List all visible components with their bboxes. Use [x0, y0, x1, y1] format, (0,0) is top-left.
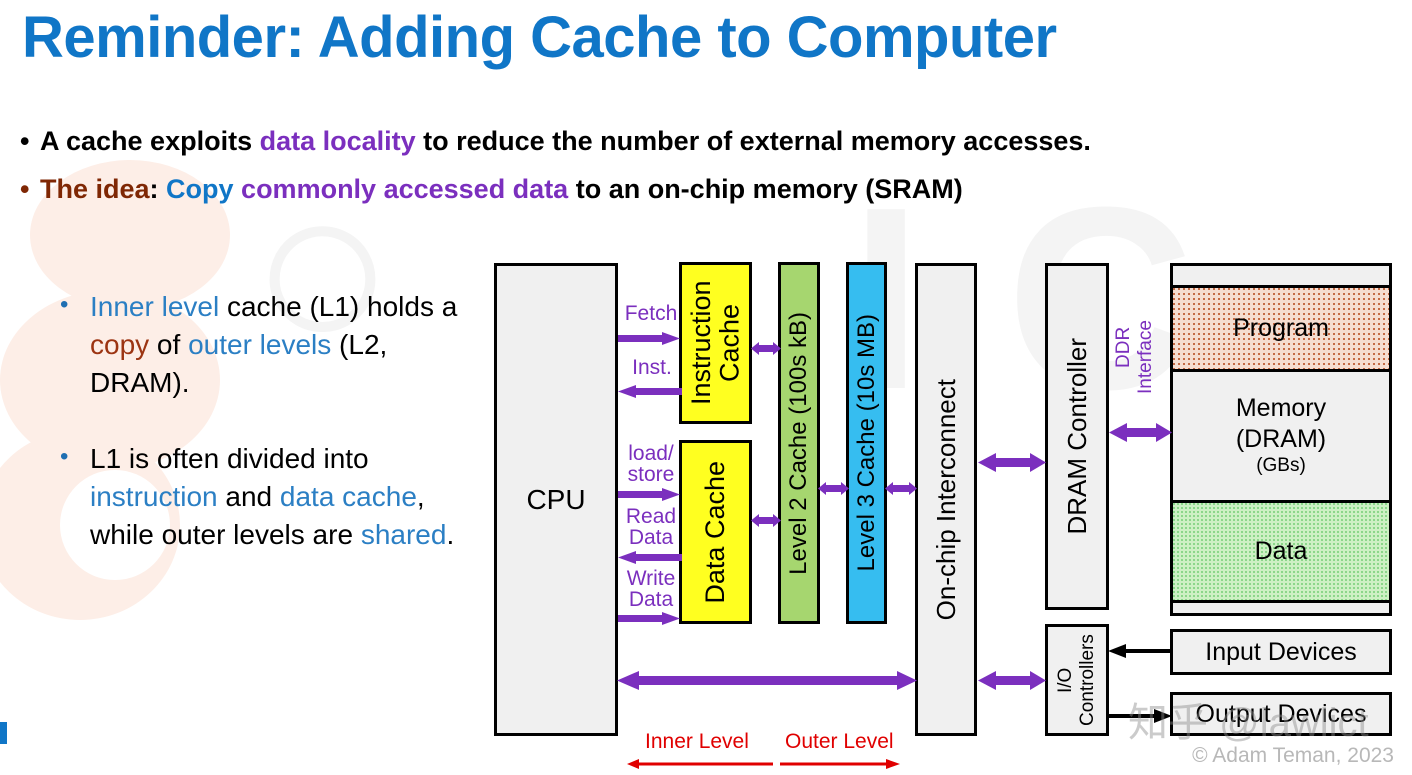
sub-bullet-item-2: • L1 is often divided into instruction a… [60, 440, 480, 554]
top-bullet-text-1: A cache exploits data locality to reduce… [40, 124, 1402, 159]
block-level3-cache-label: Level 3 Cache (10s MB) [853, 314, 881, 571]
block-cpu: CPU [494, 263, 618, 736]
sb2-part-1: L1 is often divided into [90, 443, 369, 474]
tb2-part-4: commonly accessed data [241, 174, 568, 204]
label-write-data-1: Write [620, 568, 682, 590]
memory-dram-line1: Memory [1236, 393, 1326, 424]
block-level3-cache: Level 3 Cache (10s MB) [846, 262, 887, 624]
block-dram-controller-label: DRAM Controller [1062, 338, 1093, 535]
sb1-part-1: Inner level [90, 291, 219, 322]
tb2-part-3: Copy [166, 174, 241, 204]
label-outer-level: Outer Level [785, 730, 894, 754]
sb2-part-6: shared [361, 519, 447, 550]
tb2-part-2: : [150, 174, 167, 204]
memory-dram-line2: (DRAM) [1236, 424, 1326, 455]
block-input-devices: Input Devices [1170, 629, 1392, 675]
block-instruction-cache-label: Instruction Cache [687, 265, 744, 421]
arrow-cpu-interconnect-bus [617, 670, 917, 690]
arrow-inner-level [627, 757, 773, 775]
block-io-controllers: I/O Controllers [1045, 624, 1109, 736]
block-dram-controller: DRAM Controller [1045, 263, 1109, 610]
arrow-interconnect-dram-controller [978, 452, 1046, 472]
memory-segment-dram: Memory (DRAM) (GBs) [1170, 372, 1392, 503]
tb1-part-1: A cache exploits [40, 126, 260, 156]
arrow-interconnect-io [978, 670, 1046, 690]
block-instruction-cache: Instruction Cache [679, 262, 752, 424]
sb2-part-3: and [218, 481, 280, 512]
slide-title: Reminder: Adding Cache to Computer [22, 8, 1362, 69]
arrow-l2-l3 [818, 480, 849, 496]
tb2-part-5: to an on-chip memory (SRAM) [568, 174, 963, 204]
sub-bullet-list: • Inner level cache (L1) holds a copy of… [60, 288, 480, 554]
label-ddr-2: Interface [1136, 312, 1156, 402]
sb2-part-7: . [446, 519, 454, 550]
bullet-dot: • [20, 124, 40, 159]
label-fetch: Fetch [620, 303, 682, 325]
top-bullet-item-1: • A cache exploits data locality to redu… [20, 124, 1402, 159]
arrow-load-store [618, 486, 682, 502]
bullet-dot: • [20, 172, 40, 207]
sb1-part-5: outer levels [188, 329, 331, 360]
memory-segment-program-label: Program [1233, 314, 1329, 343]
sb1-part-3: copy [90, 329, 149, 360]
memory-bottom-strip [1170, 603, 1392, 616]
tb1-part-3: to reduce the number of external memory … [416, 126, 1091, 156]
top-bullet-list: • A cache exploits data locality to redu… [20, 124, 1402, 219]
block-cpu-label: CPU [526, 484, 585, 516]
top-bullet-text-2: The idea: Copy commonly accessed data to… [40, 172, 1402, 207]
label-read-data-2: Data [620, 527, 682, 549]
memory-dram-line3: (GBs) [1256, 454, 1306, 479]
sb2-part-4: data cache [280, 481, 417, 512]
memory-top-strip [1170, 263, 1392, 288]
sb1-part-2: cache (L1) holds a [219, 291, 457, 322]
sb2-part-2: instruction [90, 481, 218, 512]
label-inner-level: Inner Level [645, 730, 749, 754]
sub-bullet-item-1: • Inner level cache (L1) holds a copy of… [60, 288, 480, 402]
label-ddr-1: DDR [1114, 312, 1134, 382]
label-read-data-1: Read [620, 506, 682, 528]
tb1-part-2: data locality [260, 126, 416, 156]
memory-segment-data: Data [1170, 503, 1392, 603]
arrow-dram-controller-memory [1109, 422, 1172, 442]
block-data-cache: Data Cache [679, 440, 752, 624]
sub-bullet-text-2: L1 is often divided into instruction and… [90, 440, 480, 554]
block-io-controllers-label: I/O Controllers [1055, 627, 1099, 733]
arrow-write-data [618, 610, 682, 626]
memory-stack: Program Memory (DRAM) (GBs) Data [1170, 263, 1392, 610]
block-on-chip-interconnect-label: On-chip Interconnect [931, 379, 962, 620]
label-load-store-2: store [620, 464, 682, 486]
bullet-dot: • [60, 440, 90, 475]
arrow-dcache-l2 [751, 512, 781, 528]
memory-segment-program: Program [1170, 288, 1392, 372]
arrow-fetch [618, 330, 682, 346]
arrow-inst [616, 383, 682, 399]
sb1-part-4: of [149, 329, 188, 360]
arrow-read-data [616, 549, 682, 565]
block-data-cache-label: Data Cache [700, 461, 731, 604]
arrow-io-output-devices [1108, 708, 1172, 729]
arrow-icache-l2 [751, 340, 781, 356]
arrow-input-devices-io [1108, 643, 1172, 664]
block-on-chip-interconnect: On-chip Interconnect [915, 263, 977, 736]
bullet-dot: • [60, 288, 90, 323]
label-write-data-2: Data [620, 589, 682, 611]
top-bullet-item-2: • The idea: Copy commonly accessed data … [20, 172, 1402, 207]
block-input-devices-label: Input Devices [1205, 638, 1356, 667]
block-level2-cache: Level 2 Cache (100s kB) [778, 262, 820, 624]
block-output-devices: Output Devices [1170, 692, 1392, 736]
tb2-part-1: The idea [40, 174, 150, 204]
block-level2-cache-label: Level 2 Cache (100s kB) [785, 312, 813, 575]
copyright-notice: © Adam Teman, 2023 [1192, 744, 1394, 768]
label-inst: Inst. [622, 357, 682, 379]
sub-bullet-text-1: Inner level cache (L1) holds a copy of o… [90, 288, 480, 402]
arrow-l3-interconnect [885, 480, 917, 496]
arrow-outer-level [780, 757, 900, 775]
block-output-devices-label: Output Devices [1196, 700, 1367, 729]
memory-segment-data-label: Data [1255, 537, 1308, 566]
label-load-store-1: load/ [620, 443, 682, 465]
